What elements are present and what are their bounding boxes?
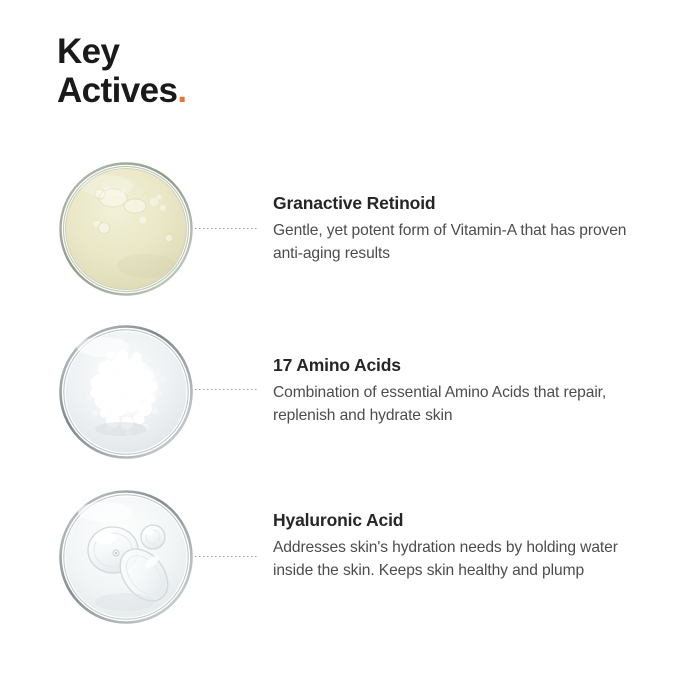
active-text-block: 17 Amino Acids Combination of essential …	[273, 355, 643, 428]
active-description: Combination of essential Amino Acids tha…	[273, 382, 643, 428]
active-item-hyaluronic-acid: Hyaluronic Acid Addresses skin's hydrati…	[0, 485, 679, 635]
active-text-block: Hyaluronic Acid Addresses skin's hydrati…	[273, 510, 643, 583]
petri-dish-yellow-serum-graphic	[59, 162, 193, 296]
active-item-17-amino-acids: 17 Amino Acids Combination of essential …	[0, 320, 679, 470]
page-title-line-2-text: Actives	[57, 71, 177, 110]
active-description: Gentle, yet potent form of Vitamin-A tha…	[273, 220, 643, 266]
active-title: Granactive Retinoid	[273, 193, 643, 214]
petri-dish-icon	[59, 490, 193, 624]
active-text-block: Granactive Retinoid Gentle, yet potent f…	[273, 193, 643, 266]
petri-dish-white-powder-graphic	[59, 325, 193, 459]
petri-dish-clear-gel-graphic	[59, 490, 193, 624]
title-accent-dot: .	[177, 71, 186, 110]
key-actives-infographic: Key Actives.	[0, 0, 679, 679]
active-title: 17 Amino Acids	[273, 355, 643, 376]
petri-dish-icon	[59, 162, 193, 296]
page-title-line-2: Actives.	[57, 71, 186, 110]
active-item-granactive-retinoid: Granactive Retinoid Gentle, yet potent f…	[0, 157, 679, 307]
dotted-connector-line	[195, 227, 259, 229]
active-title: Hyaluronic Acid	[273, 510, 643, 531]
page-title: Key Actives.	[57, 32, 186, 110]
dotted-connector-line	[195, 388, 259, 390]
petri-dish-icon	[59, 325, 193, 459]
page-title-line-1: Key	[57, 32, 186, 71]
dotted-connector-line	[195, 555, 259, 557]
active-description: Addresses skin's hydration needs by hold…	[273, 537, 643, 583]
